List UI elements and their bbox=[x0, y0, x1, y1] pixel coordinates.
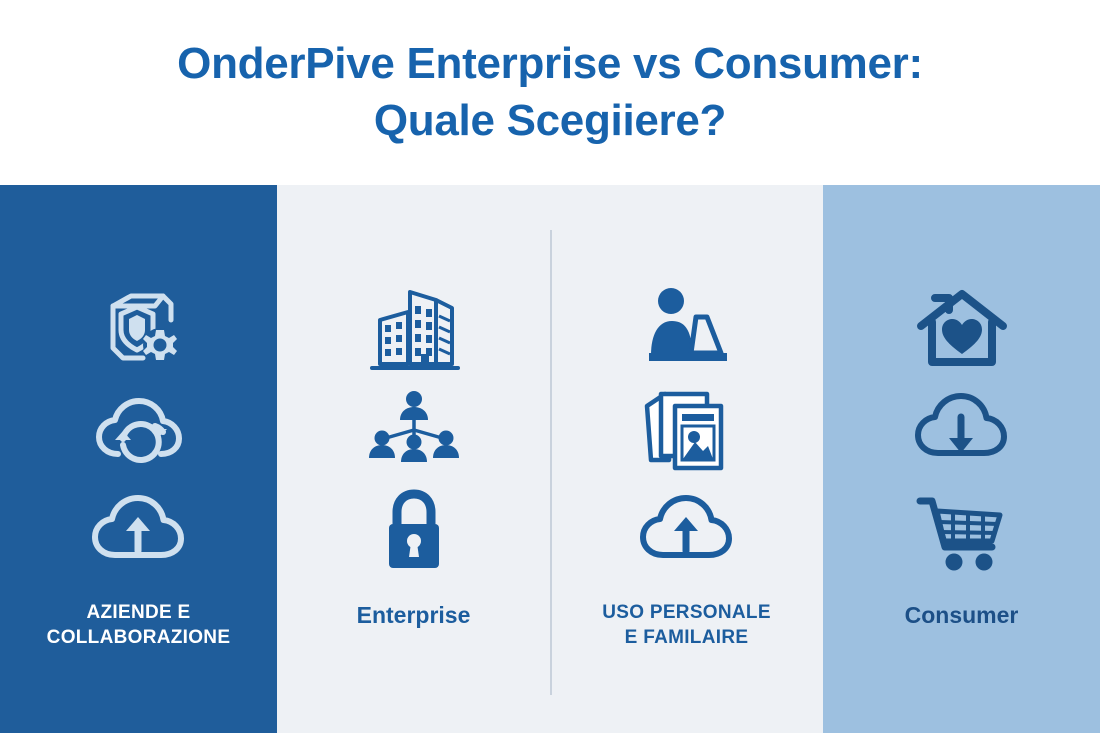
column-label-line-1: AZIENDE E bbox=[47, 601, 231, 626]
cloud-download-icon bbox=[907, 379, 1017, 481]
column-divider bbox=[550, 230, 552, 695]
column-label-uso-personale: USO PERSONALE E FAMILAIRE bbox=[602, 601, 771, 650]
columns-container: AZIENDE E COLLABORAZIONE bbox=[0, 185, 1100, 733]
header: OnderPive Enterprise vs Consumer: Quale … bbox=[0, 0, 1100, 185]
column-label-line-1: Enterprise bbox=[357, 601, 471, 631]
column-uso-personale[interactable]: USO PERSONALE E FAMILAIRE bbox=[550, 185, 823, 733]
column-label-line-1: Consumer bbox=[905, 601, 1019, 631]
person-laptop-icon bbox=[632, 277, 742, 379]
column-label-aziende: AZIENDE E COLLABORAZIONE bbox=[47, 601, 231, 650]
column-label-line-2: COLLABORAZIONE bbox=[47, 626, 231, 651]
cloud-upload-icon bbox=[632, 481, 742, 583]
cloud-upload-icon bbox=[84, 481, 194, 583]
column-consumer[interactable]: Consumer bbox=[823, 185, 1100, 733]
shield-gear-icon bbox=[84, 277, 194, 379]
column-label-line-1: USO PERSONALE bbox=[602, 601, 771, 626]
photo-stack-icon bbox=[632, 379, 742, 481]
column-label-consumer: Consumer bbox=[905, 601, 1019, 631]
column-label-enterprise: Enterprise bbox=[357, 601, 471, 631]
cloud-sync-icon bbox=[84, 379, 194, 481]
column-label-line-2: E FAMILAIRE bbox=[602, 626, 771, 651]
infographic-root: OnderPive Enterprise vs Consumer: Quale … bbox=[0, 0, 1100, 733]
column-aziende-collaborazione[interactable]: AZIENDE E COLLABORAZIONE bbox=[0, 185, 277, 733]
org-chart-team-icon bbox=[359, 379, 469, 481]
shopping-cart-icon bbox=[907, 481, 1017, 583]
padlock-icon bbox=[359, 481, 469, 583]
office-buildings-icon bbox=[359, 277, 469, 379]
home-heart-icon bbox=[907, 277, 1017, 379]
column-enterprise[interactable]: Enterprise bbox=[277, 185, 550, 733]
page-title-line-2: Quale Scegiiere? bbox=[374, 93, 726, 149]
page-title-line-1: OnderPive Enterprise vs Consumer: bbox=[177, 36, 923, 92]
